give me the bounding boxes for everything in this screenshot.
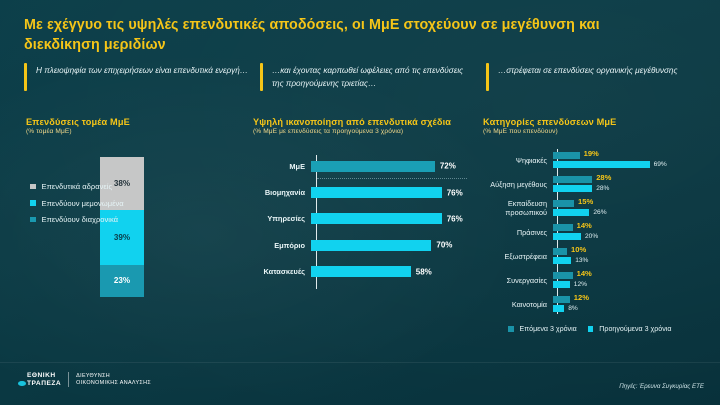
chart-3-bar-prev [553, 305, 564, 313]
chart-3-bar-prev [553, 257, 571, 265]
chart-3-row: Εκπαίδευση προσωπικού15%26% [483, 197, 715, 221]
chart-2-bar [311, 240, 431, 251]
chart-3-category-label: Καινοτομία [483, 301, 553, 310]
chart-2-category-label: Βιομηχανία [253, 188, 311, 197]
ellipse-icon [18, 381, 26, 386]
chart-1-legend: Επενδυτικά αδρανείςΕπενδύουν μεμονωμέναΕ… [30, 182, 124, 232]
chart-2-bar-area: 72% [311, 161, 475, 172]
chart-panel-categories: Κατηγορίες επενδύσεων ΜμΕ (% ΜμΕ που επε… [483, 117, 715, 317]
blurb-2-text: …και έχοντας καρπωθεί ωφέλειες από τις ε… [263, 63, 486, 91]
legend-swatch-icon [30, 217, 36, 223]
chart-3-bar-next [553, 224, 573, 232]
chart-3-category-label: Πράσινες [483, 229, 553, 238]
chart-3-bar-next [553, 176, 592, 184]
chart-1-subtitle: (% τομέα ΜμΕ) [26, 128, 238, 135]
chart-3-value-next: 14% [577, 221, 592, 230]
chart-2-bar-area: 76% [311, 213, 475, 224]
chart-3-bar-next [553, 296, 570, 304]
chart-2-category-label: Υπηρεσίες [253, 214, 311, 223]
department-line-2: ΟΙΚΟΝΟΜΙΚΗΣ ΑΝΑΛΥΣΗΣ [76, 380, 151, 387]
chart-3-bar-prev [553, 209, 589, 217]
chart-3-category-label: Εκπαίδευση προσωπικού [483, 200, 553, 217]
chart-3-value-prev: 8% [568, 305, 578, 312]
chart-3-bar-next [553, 152, 580, 160]
chart-2-value-label: 76% [447, 188, 463, 197]
slide-root: Με εχέγγυο τις υψηλές επενδυτικές αποδόσ… [0, 0, 720, 405]
chart-3-bar-next [553, 200, 574, 208]
chart-3-category-label: Εξωστρέφεια [483, 253, 553, 262]
chart-2-subtitle: (% ΜμΕ με επενδύσεις τα προηγούμενα 3 χρ… [253, 128, 475, 135]
chart-3-bar-group: 12%8% [553, 296, 715, 315]
stack-segment-value: 39% [114, 233, 130, 242]
logo-line-2-row: ΤΡΑΠΕΖΑ [18, 380, 61, 387]
blurb-3-text: …στρέφεται σε επενδύσεις οργανικής μεγέθ… [489, 63, 689, 91]
department-line-1: ΔΙΕΥΘΥΝΣΗ [76, 373, 151, 380]
chart-3-value-next: 12% [574, 293, 589, 302]
legend-label: Επενδύουν μεμονωμένα [42, 199, 124, 208]
chart-3-legend: Επόμενα 3 χρόνιαΠροηγούμενα 3 χρόνια [508, 325, 671, 333]
chart-3-value-next: 28% [596, 173, 611, 182]
legend-item[interactable]: Επόμενα 3 χρόνια [508, 325, 577, 333]
chart-2-bar-area: 76% [311, 187, 475, 198]
chart-3-bar-prev [553, 185, 592, 193]
chart-3-bar-group: 19%69% [553, 152, 715, 171]
chart-1-title: Επενδύσεις τομέα ΜμΕ [26, 117, 238, 127]
chart-3-row: Καινοτομία12%8% [483, 293, 715, 317]
chart-3-bar-next [553, 272, 573, 280]
chart-3-value-prev: 12% [574, 281, 587, 288]
chart-3-bar-group: 15%26% [553, 200, 715, 219]
chart-2-row: Υπηρεσίες76% [253, 206, 475, 232]
chart-3-value-prev: 28% [596, 185, 609, 192]
chart-3-bar-group: 14%20% [553, 224, 715, 243]
chart-2-value-label: 72% [440, 162, 456, 171]
stack-segment-value: 23% [114, 276, 130, 285]
chart-3-category-label: Συνεργασίες [483, 277, 553, 286]
chart-2-bar-area: 70% [311, 240, 475, 251]
chart-3-category-label: Ψηφιακές [483, 157, 553, 166]
chart-2-value-label: 70% [436, 241, 452, 250]
chart-3-bar-next [553, 248, 567, 256]
chart-2-bar [311, 213, 442, 224]
chart-2-category-label: ΜμΕ [253, 162, 311, 171]
footer-divider [0, 362, 720, 363]
legend-label: Επόμενα 3 χρόνια [520, 325, 577, 333]
logo-divider [68, 372, 69, 387]
chart-3-value-next: 14% [577, 269, 592, 278]
chart-3-subtitle: (% ΜμΕ που επενδύουν) [483, 128, 715, 135]
chart-2-plot: ΜμΕ72%Βιομηχανία76%Υπηρεσίες76%Εμπόριο70… [253, 153, 475, 293]
blurb-1: Η πλειοψηφία των επιχειρήσεων είναι επεν… [24, 63, 260, 91]
chart-3-value-prev: 20% [585, 233, 598, 240]
chart-2-separator [317, 178, 467, 179]
chart-3-category-label: Αύξηση μεγέθους [483, 181, 553, 190]
chart-2-row: Βιομηχανία76% [253, 179, 475, 205]
legend-swatch-icon [508, 326, 514, 332]
chart-2-value-label: 58% [416, 267, 432, 276]
chart-3-bar-group: 10%13% [553, 248, 715, 267]
chart-3-title: Κατηγορίες επενδύσεων ΜμΕ [483, 117, 715, 127]
department-name: ΔΙΕΥΘΥΝΣΗ ΟΙΚΟΝΟΜΙΚΗΣ ΑΝΑΛΥΣΗΣ [76, 373, 151, 387]
legend-label: Προηγούμενα 3 χρόνια [599, 325, 671, 333]
chart-2-bar [311, 187, 442, 198]
chart-2-category-label: Εμπόριο [253, 241, 311, 250]
legend-swatch-icon [588, 326, 594, 332]
chart-panel-satisfaction: Υψηλή ικανοποίηση από επενδυτικά σχέδια … [253, 117, 475, 293]
blurb-row: Η πλειοψηφία των επιχειρήσεων είναι επεν… [24, 63, 702, 91]
blurb-2: …και έχοντας καρπωθεί ωφέλειες από τις ε… [260, 63, 486, 91]
legend-item[interactable]: Επενδύουν διαχρονικά [30, 215, 124, 224]
logo-mark: ΕΘΝΙΚΗ ΤΡΑΠΕΖΑ [18, 372, 61, 386]
chart-3-bar-group: 28%28% [553, 176, 715, 195]
chart-2-bar-area: 58% [311, 266, 475, 277]
chart-3-value-prev: 69% [654, 161, 667, 168]
chart-2-title: Υψηλή ικανοποίηση από επενδυτικά σχέδια [253, 117, 475, 127]
chart-3-value-prev: 13% [575, 257, 588, 264]
page-title: Με εχέγγυο τις υψηλές επενδυτικές αποδόσ… [24, 16, 624, 55]
chart-3-value-next: 10% [571, 245, 586, 254]
chart-3-row: Αύξηση μεγέθους28%28% [483, 173, 715, 197]
blurb-1-text: Η πλειοψηφία των επιχειρήσεων είναι επεν… [27, 63, 260, 91]
chart-2-bar [311, 161, 435, 172]
chart-3-row: Συνεργασίες14%12% [483, 269, 715, 293]
chart-2-row: Εμπόριο70% [253, 232, 475, 258]
legend-swatch-icon [30, 184, 36, 190]
chart-2-value-label: 76% [447, 214, 463, 223]
logo-line-2: ΤΡΑΠΕΖΑ [27, 380, 61, 387]
chart-3-row: Πράσινες14%20% [483, 221, 715, 245]
source-note: Πηγές: Έρευνα Συγκυρίας ΕΤΕ [619, 383, 704, 390]
chart-3-plot: Ψηφιακές19%69%Αύξηση μεγέθους28%28%Εκπαί… [483, 149, 715, 317]
chart-3-value-next: 15% [578, 197, 593, 206]
legend-label: Επενδυτικά αδρανείς [42, 182, 113, 191]
legend-label: Επενδύουν διαχρονικά [42, 215, 119, 224]
chart-3-row: Εξωστρέφεια10%13% [483, 245, 715, 269]
chart-3-bar-prev [553, 161, 650, 169]
chart-3-bar-prev [553, 281, 570, 289]
chart-2-row: Κατασκευές58% [253, 259, 475, 285]
legend-swatch-icon [30, 200, 36, 206]
stack-segment: 23% [100, 265, 144, 297]
chart-2-rows: ΜμΕ72%Βιομηχανία76%Υπηρεσίες76%Εμπόριο70… [253, 153, 475, 285]
chart-2-category-label: Κατασκευές [253, 267, 311, 276]
chart-3-value-next: 19% [584, 149, 599, 158]
chart-3-rows: Ψηφιακές19%69%Αύξηση μεγέθους28%28%Εκπαί… [483, 149, 715, 317]
chart-3-value-prev: 26% [593, 209, 606, 216]
legend-item[interactable]: Επενδυτικά αδρανείς [30, 182, 124, 191]
bank-logo: ΕΘΝΙΚΗ ΤΡΑΠΕΖΑ ΔΙΕΥΘΥΝΣΗ ΟΙΚΟΝΟΜΙΚΗΣ ΑΝΑ… [18, 372, 151, 387]
blurb-3: …στρέφεται σε επενδύσεις οργανικής μεγέθ… [486, 63, 702, 91]
logo-line-1: ΕΘΝΙΚΗ [18, 372, 61, 379]
chart-2-bar [311, 266, 411, 277]
legend-item[interactable]: Προηγούμενα 3 χρόνια [588, 325, 672, 333]
chart-2-row: ΜμΕ72% [253, 153, 475, 179]
chart-3-bar-group: 14%12% [553, 272, 715, 291]
chart-3-bar-prev [553, 233, 581, 241]
chart-3-row: Ψηφιακές19%69% [483, 149, 715, 173]
legend-item[interactable]: Επενδύουν μεμονωμένα [30, 199, 124, 208]
